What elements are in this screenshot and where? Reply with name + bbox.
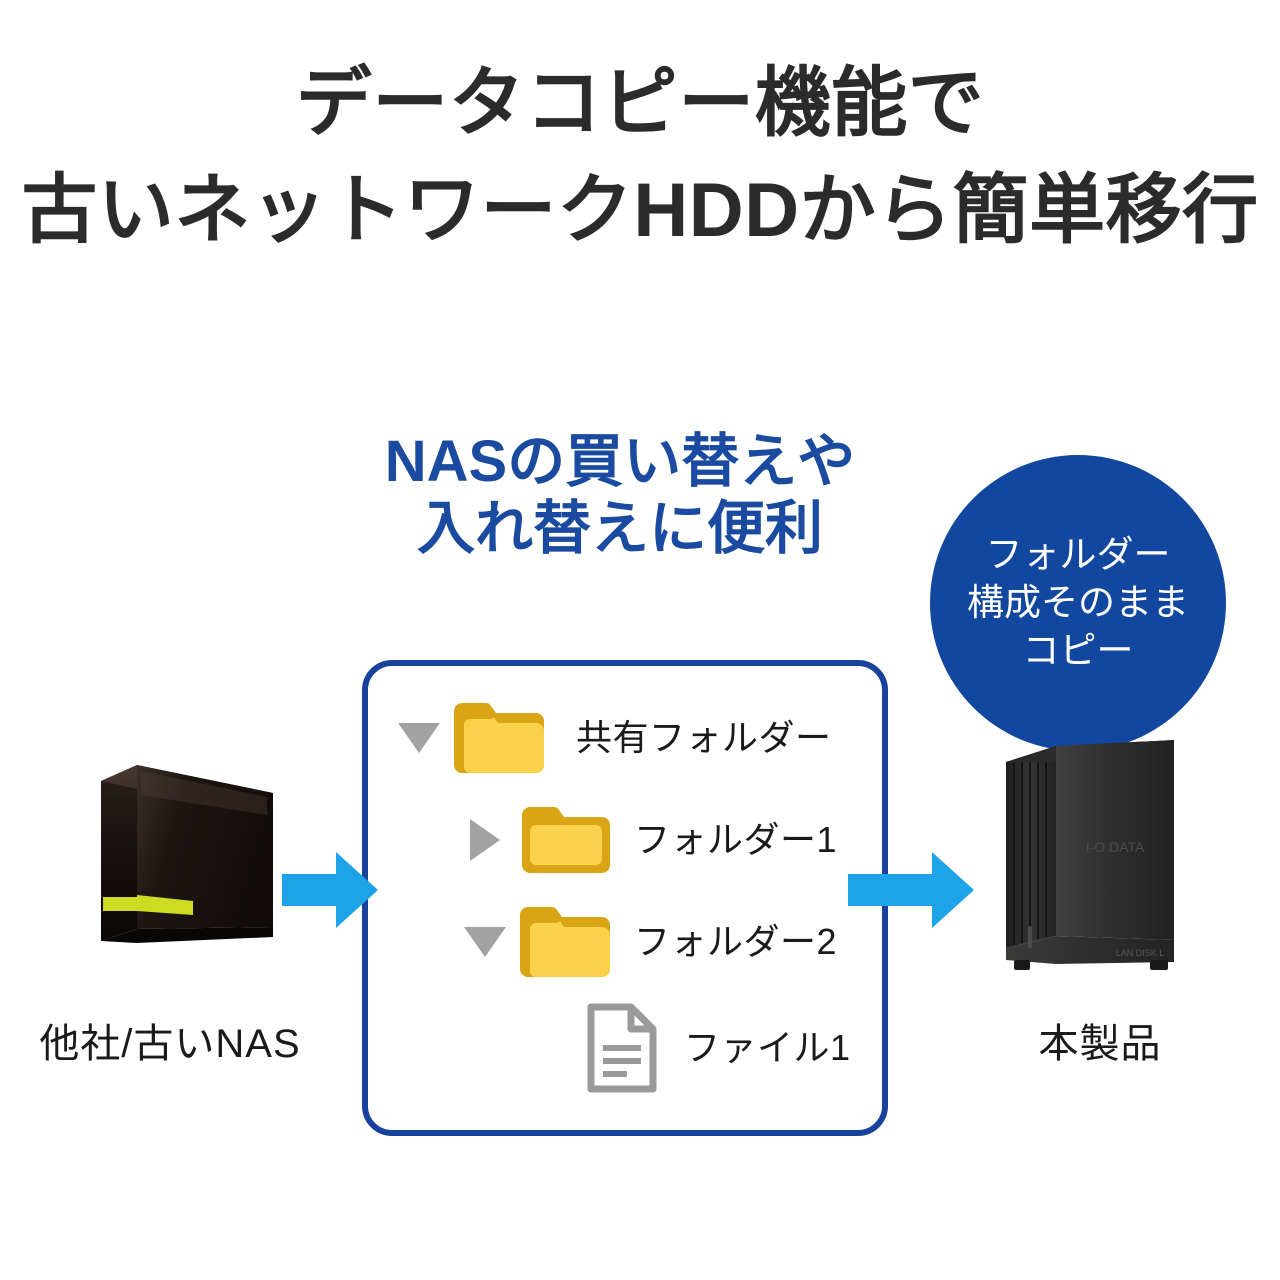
triangle-down-icon[interactable] <box>392 711 446 765</box>
tree-item-label: 共有フォルダー <box>576 718 832 758</box>
nas-tower-icon: I-O DATA LAN DISK L <box>1000 730 1180 1005</box>
tree-row[interactable]: フォルダー1 <box>458 798 837 882</box>
subtitle-line-2: 入れ替えに便利 <box>330 495 910 562</box>
folder-closed-icon <box>512 801 620 879</box>
page-title: データコピー機能で 古いネットワークHDDから簡単移行 <box>0 52 1280 266</box>
nas-box-icon <box>75 755 285 970</box>
tree-row[interactable]: ファイル1 <box>520 1006 851 1090</box>
arrow-right-icon <box>848 852 974 928</box>
headline-line-2: 古いネットワークHDDから簡単移行 <box>0 156 1280 266</box>
tree-row[interactable]: 共有フォルダー <box>392 696 832 780</box>
subtitle: NASの買い替えや 入れ替えに便利 <box>330 428 910 562</box>
source-nas-device <box>75 755 285 970</box>
arrow-tree-to-target <box>848 852 974 933</box>
folder-open-icon <box>512 903 620 981</box>
badge-line-2: 構成そのまま <box>967 579 1189 627</box>
headline-line-1: データコピー機能で <box>0 52 1280 156</box>
folder-open-icon <box>446 699 554 777</box>
subtitle-line-1: NASの買い替えや <box>330 428 910 495</box>
copy-structure-badge: フォルダー 構成そのまま コピー <box>930 455 1226 751</box>
arrow-right-icon <box>282 852 378 928</box>
arrow-source-to-tree <box>282 852 378 933</box>
triangle-right-icon[interactable] <box>458 813 512 867</box>
target-nas-device: I-O DATA LAN DISK L <box>1000 730 1180 1005</box>
target-device-label: 本製品 <box>960 1020 1240 1068</box>
tree-item-label: フォルダー2 <box>634 922 837 962</box>
triangle-down-icon[interactable] <box>458 915 512 969</box>
document-icon <box>574 1003 670 1093</box>
model-text: LAN DISK L <box>1116 948 1165 958</box>
tree-row[interactable]: フォルダー2 <box>458 900 837 984</box>
brand-text: I-O DATA <box>1086 839 1145 855</box>
tree-item-label: ファイル1 <box>684 1028 851 1068</box>
source-device-label: 他社/古いNAS <box>0 1020 340 1068</box>
badge-line-3: コピー <box>1023 627 1134 675</box>
folder-tree-panel: 共有フォルダー フォルダー1 フォルダー2 <box>362 660 888 1136</box>
badge-line-1: フォルダー <box>986 531 1171 579</box>
tree-item-label: フォルダー1 <box>634 820 837 860</box>
